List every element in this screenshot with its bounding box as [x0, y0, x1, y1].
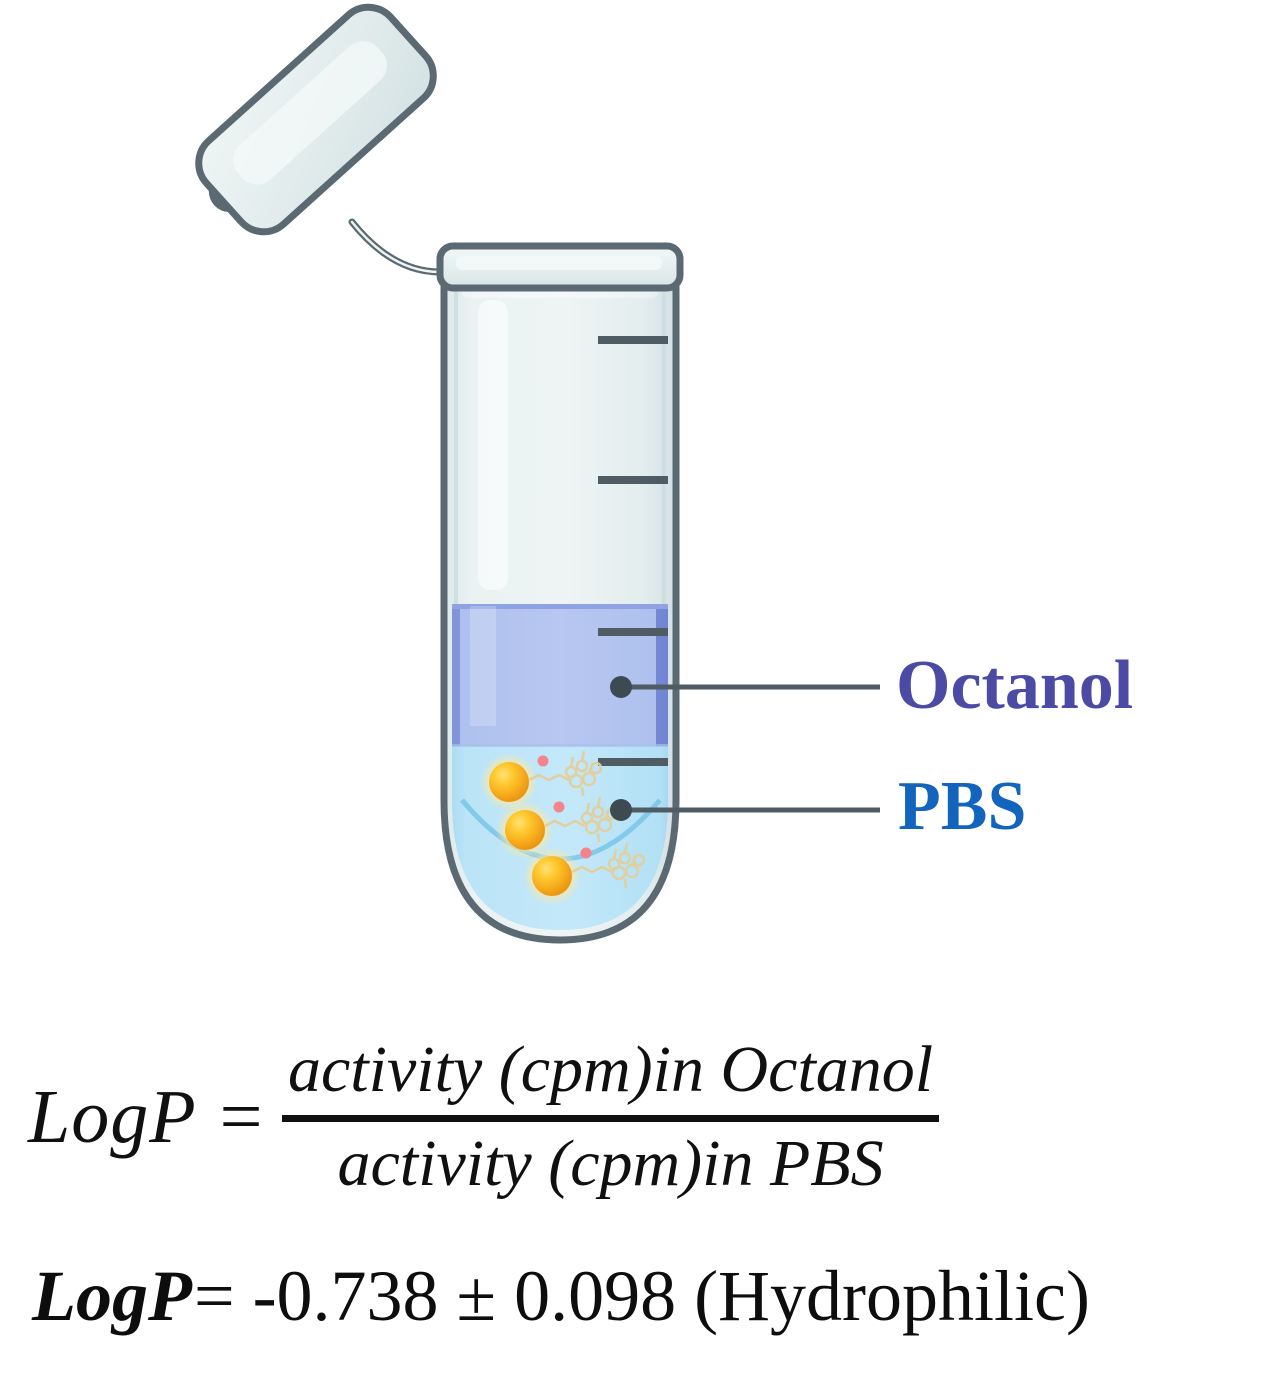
logp-result-line: LogP = -0.738 ± 0.098 (Hydrophilic) [32, 1255, 1090, 1338]
nanoparticle-core-2 [505, 810, 545, 850]
result-value: = -0.738 ± 0.098 (Hydrophilic) [194, 1255, 1090, 1338]
equation-numerator: activity (cpm)in Octanol [282, 1030, 939, 1111]
tube-illustration: Octanol PBS [0, 0, 1269, 985]
lid-hinge-icon [352, 222, 440, 272]
ligand-marker-1 [538, 756, 549, 767]
callout-label-pbs: PBS [898, 772, 1026, 842]
pbs-leader-dot [610, 799, 632, 821]
liquid-highlight [470, 606, 496, 726]
equation-fraction: activity (cpm)in Octanol activity (cpm)i… [282, 1030, 939, 1204]
callout-label-octanol: Octanol [896, 651, 1133, 721]
phase-interface-line [448, 744, 672, 747]
result-label: LogP [32, 1255, 192, 1338]
equation-equals-sign: = [215, 1074, 266, 1161]
nanoparticle-core-3 [532, 856, 572, 896]
equation-row: LogP = activity (cpm)in Octanol activity… [28, 1010, 939, 1225]
logp-equation-block: LogP = activity (cpm)in Octanol activity… [0, 1000, 1269, 1240]
figure-root: Octanol PBS LogP = activity (cpm)in Octa… [0, 0, 1269, 1386]
tube-lid-group [186, 0, 445, 272]
equation-lhs: LogP [28, 1074, 197, 1161]
microcentrifuge-tube-graphic [0, 0, 1269, 985]
glass-highlight-strip [478, 300, 508, 590]
equation-denominator: activity (cpm)in PBS [332, 1124, 890, 1205]
equation-fraction-bar [282, 1115, 939, 1122]
ligand-marker-2 [554, 802, 565, 813]
nanoparticle-core-1 [489, 762, 529, 802]
octanol-right-edge [656, 606, 668, 746]
ligand-marker-3 [581, 848, 592, 859]
tube-body-group [440, 246, 680, 944]
tube-rim-highlight [456, 256, 662, 270]
octanol-leader-dot [610, 676, 632, 698]
